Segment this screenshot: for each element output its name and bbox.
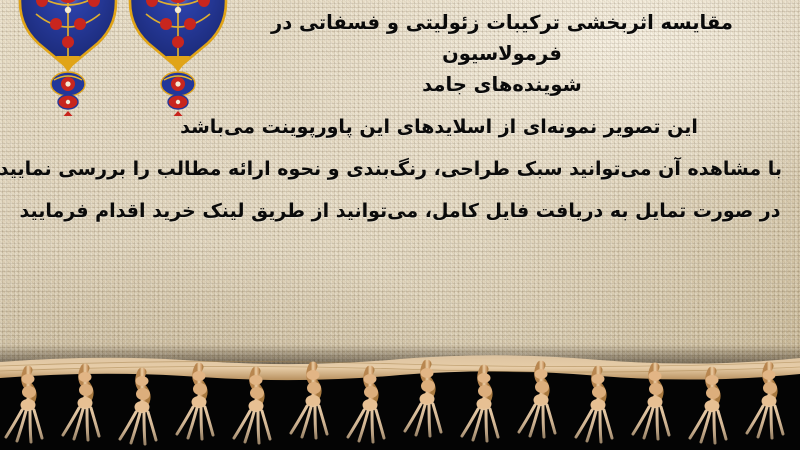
slide-body-line-2: با مشاهده آن می‌توانید سبک طراحی، رنگ‌بن… [18,148,782,190]
slide-title-line-2: شوینده‌های جامد [230,70,774,101]
slide-body-line-1: این تصویر نمونه‌ای از اسلایدهای این پاور… [18,106,782,148]
slide-title-line-1: مقایسه اثربخشی ترکیبات زئولیتی و فسفاتی … [230,8,774,70]
slide-body-line-3: در صورت تمایل به دریافت فایل کامل، می‌تو… [18,190,782,232]
band-top-shadow [0,344,800,368]
bottom-black-band [0,368,800,450]
slide-body: این تصویر نمونه‌ای از اسلایدهای این پاور… [0,106,800,232]
slide-title: مقایسه اثربخشی ترکیبات زئولیتی و فسفاتی … [0,8,800,100]
presentation-slide: مقایسه اثربخشی ترکیبات زئولیتی و فسفاتی … [0,0,800,450]
